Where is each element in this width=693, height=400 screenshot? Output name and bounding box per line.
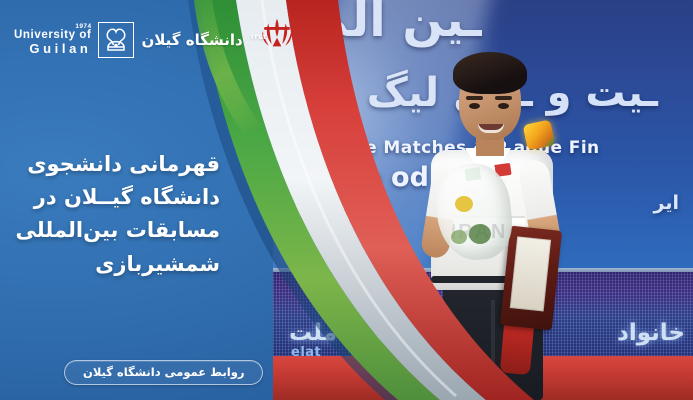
bouquet-detail-leaf <box>451 230 467 244</box>
headline-line-4: شمشیربازی <box>15 248 220 281</box>
backdrop-persian-right: ایر <box>654 192 679 214</box>
logo-persian-text: ۱۳۵۲ دانشگاه گیلان <box>141 31 267 49</box>
athlete-eye-right <box>498 103 509 109</box>
logo-founded-year-persian: ۱۳۵۲ <box>250 33 267 41</box>
athlete-brow-right <box>495 96 512 100</box>
gold-medal-icon <box>523 119 556 150</box>
athlete-brow-left <box>466 96 483 100</box>
bouquet-detail-yellow <box>455 196 473 212</box>
logo-english-text: 1974 University of Guilan <box>14 23 91 57</box>
athlete-hair <box>453 52 527 94</box>
headline-line-3: مسابقات بین‌المللی <box>15 214 220 247</box>
headline: قهرمانی دانشجوی دانشگاه گیــلان در مسابق… <box>15 148 220 281</box>
led-text-right: خانواد <box>617 320 685 346</box>
guilan-crest-icon <box>98 22 134 58</box>
athlete-podium-photo: ـین الملـ ـیت و ـنال لیگ برتر Satellite … <box>273 0 693 400</box>
backdrop-english-line-2: Sabre od <box>293 162 429 193</box>
athlete-eye-left <box>469 103 480 109</box>
award-plaque <box>500 226 562 331</box>
university-logo[interactable]: 1974 University of Guilan ۱۳۵۲ دانشگاه گ… <box>14 22 267 58</box>
news-banner: ـین الملـ ـیت و ـنال لیگ برتر Satellite … <box>0 0 693 400</box>
led-text-left: بیمه ملت <box>289 320 392 346</box>
bouquet-detail-green <box>469 224 491 244</box>
headline-line-2: دانشگاه گیــلان در <box>15 181 220 214</box>
athlete-figure: IRAN <box>421 48 571 400</box>
logo-english-line-2: Guilan <box>29 42 91 57</box>
public-relations-badge[interactable]: روابط عمومی دانشگاه گیلان <box>64 360 263 385</box>
backdrop-persian-line-1: ـین الملـ <box>283 0 482 48</box>
logo-persian-name: دانشگاه گیلان <box>141 31 242 49</box>
backdrop-english-line-3: Iran/U <box>293 196 386 227</box>
headline-line-1: قهرمانی دانشجوی <box>15 148 220 181</box>
